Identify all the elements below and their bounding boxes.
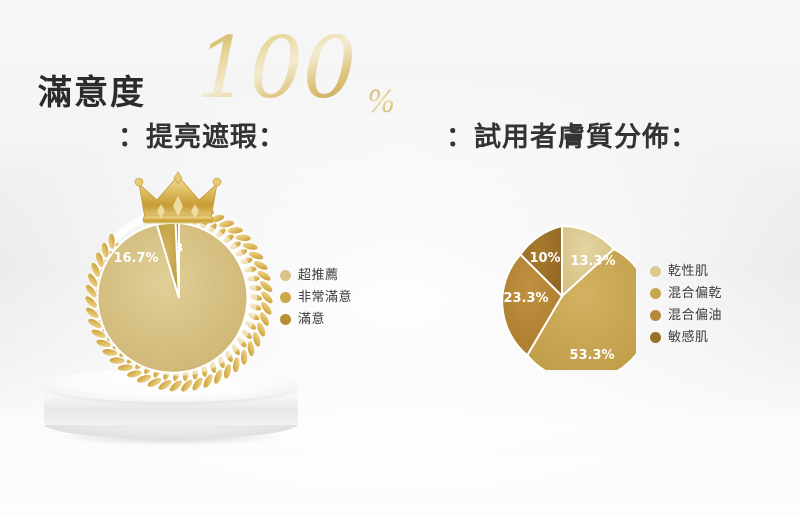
legend-item-label: 超推薦 [298,269,339,282]
left-chart-svg: 80% 16.7% 3 [84,170,274,396]
satisfaction-score: 100 [196,26,356,110]
headline-group: 滿意度 100 % [34,26,414,118]
slide-canvas: 滿意度 100 % ：提亮遮瑕： ：試用者膚質分佈： [0,0,800,516]
legend-item-label: 滿意 [298,313,325,326]
legend-dot-icon [650,266,661,277]
legend-item[interactable]: 敏感肌 [650,328,722,347]
section-title-right: ：試用者膚質分佈： [446,124,698,151]
section-title-left: ：提亮遮瑕： [118,124,286,151]
legend-item-label: 敏感肌 [668,331,709,344]
legend-item[interactable]: 乾性肌 [650,262,722,281]
legend-dot-icon [280,292,291,303]
legend-dot-icon [650,332,661,343]
legend-item[interactable]: 超推薦 [280,266,352,285]
crown-icon [135,172,221,223]
pie-label-3-3: 3 [175,241,183,255]
skin-type-pie-chart: 13.3% 53.3% 23.3% 10% [488,222,636,370]
pie-label-23-3: 23.3% [503,291,548,306]
pie-label-10: 10% [529,251,560,266]
satisfaction-pie-chart: 80% 16.7% 3 [84,170,274,396]
legend-item-label: 非常滿意 [298,291,352,304]
legend-item-label: 混合偏乾 [668,287,722,300]
legend-dot-icon [280,314,291,325]
legend-item-label: 乾性肌 [668,265,709,278]
right-chart-svg: 13.3% 53.3% 23.3% 10% [488,222,636,370]
pie-label-80: 80% [208,383,239,396]
percent-symbol: % [367,88,396,118]
page-title: 滿意度 [38,76,146,110]
pie-label-53-3: 53.3% [569,348,614,363]
legend-dot-icon [650,310,661,321]
legend-satisfaction: 超推薦 非常滿意 滿意 [280,266,352,332]
legend-item[interactable]: 滿意 [280,310,352,329]
legend-dot-icon [280,270,291,281]
legend-item-label: 混合偏油 [668,309,722,322]
pie-label-13-3: 13.3% [570,254,615,269]
left-pie-slices [97,223,247,373]
legend-skin-type: 乾性肌 混合偏乾 混合偏油 敏感肌 [650,262,722,350]
legend-item[interactable]: 非常滿意 [280,288,352,307]
pie-label-16-7: 16.7% [113,251,158,266]
legend-item[interactable]: 混合偏乾 [650,284,722,303]
legend-dot-icon [650,288,661,299]
laurel-leaf [241,350,247,365]
legend-item[interactable]: 混合偏油 [650,306,722,325]
